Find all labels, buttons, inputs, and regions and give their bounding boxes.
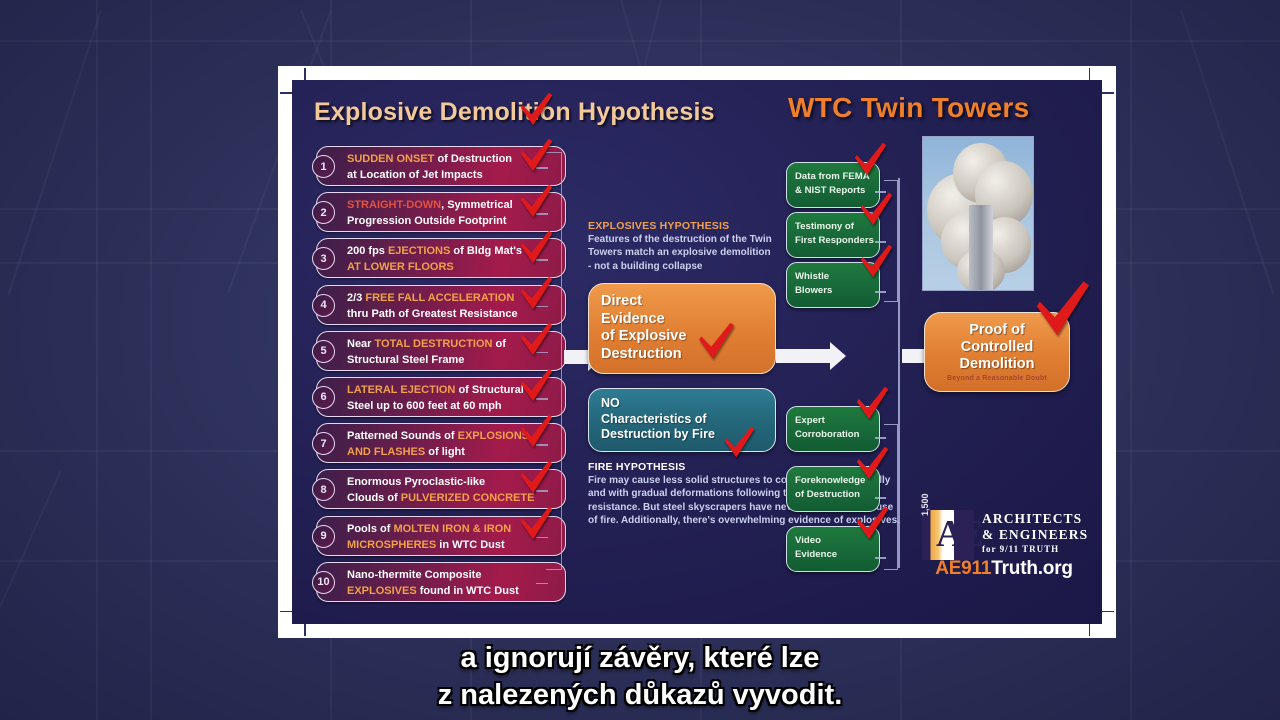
ae911truth-logo: 1,500 AE ARCHITECTS & ENGINEERS for 9/11…: [914, 508, 1089, 562]
direct-evidence-box: DirectEvidenceof ExplosiveDestruction: [588, 283, 776, 374]
logo-monogram: AE: [936, 514, 979, 554]
logo-url-prefix: AE911: [935, 558, 991, 579]
evidence-number-9: 9: [312, 525, 335, 548]
logo-line-engineers: & ENGINEERS: [982, 527, 1094, 543]
heading-wtc-twin-towers: WTC Twin Towers: [788, 92, 1029, 124]
direct-evidence-line-3: of Explosive: [601, 328, 765, 346]
logo-count: 1,500: [920, 493, 930, 516]
check-icon: [518, 368, 554, 404]
evidence-number-7: 7: [312, 432, 335, 455]
explosives-hypothesis-heading: EXPLOSIVES HYPOTHESIS: [588, 220, 776, 232]
check-icon: [1032, 280, 1092, 340]
check-icon: [518, 322, 554, 358]
logo-url: AE911Truth.org: [914, 558, 1094, 580]
evidence-number-3: 3: [312, 247, 335, 270]
check-icon: [518, 460, 554, 496]
proof-line-2: Controlled: [961, 339, 1034, 356]
source-line-2: Blowers: [795, 284, 873, 298]
direct-evidence-line-1: Direct: [601, 293, 765, 311]
check-icon: [518, 138, 554, 174]
infographic-slide: Explosive Demolition Hypothesis WTC Twin…: [292, 80, 1102, 624]
arrow-middle-to-right: [776, 342, 848, 370]
source-line-2: Evidence: [795, 548, 873, 562]
evidence-item-10: 10Nano-thermite CompositeEXPLOSIVES foun…: [316, 562, 566, 602]
logo-line-architects: ARCHITECTS: [982, 511, 1094, 527]
direct-evidence-line-4: Destruction: [601, 346, 765, 364]
check-icon: [518, 230, 554, 266]
proof-line-1: Proof of: [969, 322, 1025, 339]
subtitle-overlay: a ignorují závěry, které lze z nalezenýc…: [0, 640, 1280, 714]
evidence-number-2: 2: [312, 201, 335, 224]
evidence-number-8: 8: [312, 478, 335, 501]
logo-line-truth: for 9/11 TRUTH: [982, 544, 1094, 554]
check-icon: [518, 276, 554, 312]
check-icon: [518, 506, 554, 542]
evidence-number-10: 10: [312, 571, 335, 594]
evidence-number-5: 5: [312, 340, 335, 363]
check-icon: [854, 386, 890, 422]
fire-hypothesis-heading: FIRE HYPOTHESIS: [588, 461, 776, 473]
check-icon: [518, 92, 554, 128]
check-icon: [518, 414, 554, 450]
check-icon: [858, 244, 894, 280]
source-line-2: Corroboration: [795, 428, 873, 442]
check-icon: [696, 322, 736, 362]
bracket-tick: [536, 583, 548, 585]
check-icon: [858, 192, 894, 228]
direct-evidence-line-2: Evidence: [601, 311, 765, 329]
evidence-number-1: 1: [312, 155, 335, 178]
check-icon: [722, 426, 756, 460]
evidence-line-1: Nano-thermite Composite: [347, 567, 559, 583]
check-icon: [852, 142, 888, 178]
proof-line-3: Demolition: [960, 356, 1035, 373]
no-fire-line-2: Characteristics of: [601, 412, 765, 428]
no-fire-line-1: NO: [601, 396, 765, 412]
logo-url-suffix: Truth.org: [991, 558, 1073, 579]
check-icon: [518, 184, 554, 220]
sources-spine: [898, 178, 900, 568]
subtitle-line-1: a ignorují závěry, které lze: [0, 640, 1280, 677]
evidence-line-2: EXPLOSIVES found in WTC Dust: [347, 583, 559, 599]
evidence-number-6: 6: [312, 386, 335, 409]
twin-towers-collapse-photo: [922, 136, 1034, 291]
evidence-number-4: 4: [312, 294, 335, 317]
explosives-hypothesis-body: Features of the destruction of the Twin …: [588, 233, 776, 273]
proof-subtitle: Beyond a Reasonable Doubt: [947, 375, 1047, 382]
middle-column: EXPLOSIVES HYPOTHESIS Features of the de…: [588, 220, 776, 527]
check-icon: [854, 446, 890, 482]
source-line-2: of Destruction: [795, 488, 873, 502]
heading-explosive-demolition-hypothesis: Explosive Demolition Hypothesis: [314, 98, 715, 127]
check-icon: [854, 506, 890, 542]
subtitle-line-2: z nalezených důkazů vyvodit.: [0, 677, 1280, 714]
